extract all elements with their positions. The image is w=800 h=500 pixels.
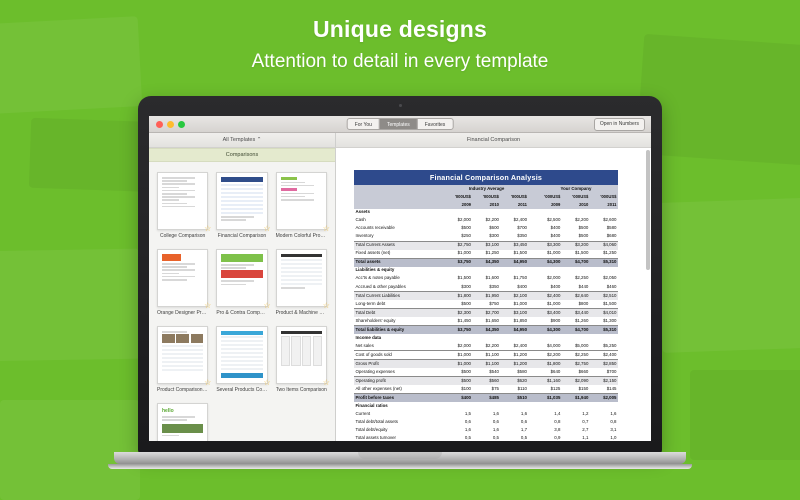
- row-value: $1,200: [501, 351, 529, 360]
- laptop-screen: For You Templates Favorites Open in Numb…: [149, 116, 651, 441]
- row-value: $500: [562, 233, 590, 242]
- favorite-star-icon[interactable]: ☆: [323, 379, 330, 387]
- row-value: $100: [445, 385, 473, 394]
- column-unit: '000US$: [473, 193, 501, 201]
- row-value: $500: [445, 225, 473, 233]
- row-value: $620: [501, 377, 529, 386]
- row-value: $510: [501, 394, 529, 403]
- preview-title: Financial Comparison: [336, 133, 651, 148]
- all-templates-popup[interactable]: All Templates ⌃: [149, 133, 335, 148]
- row-value: $1,260: [562, 317, 590, 326]
- laptop-mockup: For You Templates Favorites Open in Numb…: [138, 96, 662, 488]
- row-label: Cost of goods sold: [354, 351, 445, 360]
- row-label: Net sales: [354, 342, 445, 351]
- row-value: $1,100: [473, 351, 501, 360]
- column-year: 2010: [473, 201, 501, 209]
- row-value: 1,6: [590, 410, 618, 418]
- row-label: Operating expenses: [354, 368, 445, 377]
- template-thumbnail[interactable]: [157, 326, 208, 384]
- row-value: $4,350: [473, 325, 501, 334]
- row-label: Accounts receivable: [354, 225, 445, 233]
- row-value: 1,6: [473, 426, 501, 434]
- row-value: $400: [534, 283, 562, 292]
- row-value: $800: [562, 300, 590, 309]
- row-label: Acc'ts & notes payable: [354, 275, 445, 283]
- template-thumbnail[interactable]: [276, 172, 327, 230]
- row-value: $1,450: [445, 317, 473, 326]
- spacer-cell: [473, 334, 501, 342]
- row-value: $2,850: [590, 360, 618, 369]
- row-value: 0,5: [501, 434, 529, 441]
- row-value: $1,500: [590, 300, 618, 309]
- row-value: $1,035: [534, 394, 562, 403]
- table-row: Accounts receivable$500$600$700$400$500$…: [354, 225, 618, 233]
- row-value: $500: [445, 300, 473, 309]
- preview-scroll-area[interactable]: Financial Comparison Analysis Industry A…: [336, 148, 651, 441]
- templates-sidebar: All Templates ⌃ Comparisons ☆ College Co…: [149, 133, 336, 441]
- row-label: Total debt/equity: [354, 426, 445, 434]
- vertical-scrollbar[interactable]: [646, 150, 650, 270]
- row-value: $660: [562, 368, 590, 377]
- row-value: $400: [445, 394, 473, 403]
- row-value: $2,400: [590, 351, 618, 360]
- row-value: $640: [534, 368, 562, 377]
- row-value: $4,060: [590, 241, 618, 250]
- page-title: Unique designs: [0, 16, 800, 43]
- minimize-icon[interactable]: [167, 121, 174, 128]
- template-item-two-items-comparison[interactable]: ☆ Two Items Comparison: [272, 323, 331, 400]
- row-value: $350: [501, 233, 529, 242]
- table-row: Cash$2,000$2,200$2,400$2,500$2,200$2,600: [354, 217, 618, 225]
- section-header-row: Income data: [354, 334, 618, 342]
- row-value: $2,005: [590, 394, 618, 403]
- row-value: $1,300: [590, 317, 618, 326]
- row-value: $1,000: [501, 300, 529, 309]
- row-value: $400: [534, 233, 562, 242]
- favorite-star-icon[interactable]: ☆: [204, 379, 211, 387]
- row-value: $3,400: [534, 308, 562, 317]
- spacer-cell: [501, 334, 529, 342]
- template-item-orange-designer-product-comparison[interactable]: ☆ Orange Designer Product C...: [153, 246, 212, 323]
- template-thumbnail[interactable]: [157, 172, 208, 230]
- row-value: 1,0: [590, 434, 618, 441]
- spacer-cell: [473, 402, 501, 410]
- template-item-financial-comparison[interactable]: ☆ Financial Comparison: [212, 169, 271, 246]
- row-value: 1,1: [562, 434, 590, 441]
- table-row: Fixed assets (net)$1,000$1,250$1,500$1,0…: [354, 250, 618, 259]
- row-value: $2,400: [501, 217, 529, 225]
- webcam-icon: [399, 104, 402, 107]
- template-item-modern-colorful-product-comparison[interactable]: ☆ Modern Colorful Product Co...: [272, 169, 331, 246]
- bg-texture-5: [657, 197, 800, 353]
- row-value: $4,300: [534, 325, 562, 334]
- table-row: Gross Profit$1,000$1,100$1,200$1,800$2,7…: [354, 360, 618, 369]
- row-value: $250: [445, 233, 473, 242]
- row-value: $2,300: [445, 308, 473, 317]
- row-value: $5,000: [562, 342, 590, 351]
- row-value: $4,700: [562, 325, 590, 334]
- row-value: $2,250: [562, 351, 590, 360]
- row-value: $2,000: [445, 342, 473, 351]
- laptop-notch: [358, 452, 442, 459]
- row-value: $4,350: [473, 258, 501, 267]
- bg-texture-6: [690, 370, 800, 460]
- template-thumbnail[interactable]: [216, 172, 267, 230]
- row-value: $680: [590, 233, 618, 242]
- row-value: $4,950: [501, 325, 529, 334]
- row-value: $125: [534, 385, 562, 394]
- row-value: $600: [473, 225, 501, 233]
- favorite-star-icon[interactable]: ☆: [263, 302, 270, 310]
- column-unit: '000US$: [501, 193, 529, 201]
- row-value: $1,250: [473, 250, 501, 259]
- row-value: $3,100: [473, 241, 501, 250]
- row-value: $540: [473, 368, 501, 377]
- favorite-star-icon[interactable]: ☆: [323, 302, 330, 310]
- tab-for-you[interactable]: For You: [348, 119, 380, 129]
- favorite-star-icon[interactable]: ☆: [204, 302, 211, 310]
- row-value: $3,300: [534, 241, 562, 250]
- row-value: 1,6: [445, 426, 473, 434]
- row-value: $1,160: [534, 377, 562, 386]
- row-value: $2,640: [562, 291, 590, 300]
- template-thumbnail[interactable]: [276, 326, 327, 384]
- row-label: Total assets: [354, 258, 445, 267]
- template-label: Modern Colorful Product Co...: [276, 233, 327, 239]
- row-value: $1,000: [445, 351, 473, 360]
- spacer-cell: [562, 402, 590, 410]
- row-value: $500: [562, 225, 590, 233]
- column-units-row: '000US$'000US$'000US$'000US$'000US$'000U…: [354, 193, 618, 201]
- row-value: 3,8: [534, 426, 562, 434]
- row-value: $700: [590, 368, 618, 377]
- row-value: $1,940: [562, 394, 590, 403]
- row-value: $2,600: [590, 217, 618, 225]
- table-row: Total assets turnover0,50,50,50,91,11,0: [354, 434, 618, 441]
- table-row: Net sales$2,000$2,200$2,400$4,000$5,000$…: [354, 342, 618, 351]
- row-label: Total Current Liabilities: [354, 291, 445, 300]
- row-value: $2,200: [473, 342, 501, 351]
- section-name: Assets: [354, 209, 445, 217]
- template-label: Product & Machine Compari...: [276, 310, 327, 316]
- column-year: 2009: [534, 201, 562, 209]
- app-body: All Templates ⌃ Comparisons ☆ College Co…: [149, 133, 651, 441]
- section-name: Financial ratios: [354, 402, 445, 410]
- table-row: Profit before taxes$400$485$510$1,035$1,…: [354, 394, 618, 403]
- spacer-cell: [590, 209, 618, 217]
- row-label: Profit before taxes: [354, 394, 445, 403]
- traffic-lights[interactable]: [156, 121, 185, 128]
- table-row: Total Current Liabilities$1,800$1,950$2,…: [354, 291, 618, 300]
- template-item-several-products-comparison[interactable]: ☆ Several Products Comparison: [212, 323, 271, 400]
- table-row: Total liabilities & equity$3,750$4,350$4…: [354, 325, 618, 334]
- row-value: 0,8: [590, 418, 618, 426]
- row-value: $700: [501, 225, 529, 233]
- template-item-college-comparison[interactable]: ☆ College Comparison: [153, 169, 212, 246]
- row-label: Gross Profit: [354, 360, 445, 369]
- row-value: 1,6: [473, 410, 501, 418]
- template-thumbnail[interactable]: [157, 249, 208, 307]
- row-value: $2,200: [534, 351, 562, 360]
- spacer-cell: [354, 201, 445, 209]
- template-label: Orange Designer Product C...: [157, 310, 208, 316]
- favorite-star-icon[interactable]: ☆: [204, 225, 211, 233]
- section-name: Liabilities & equity: [354, 267, 445, 275]
- table-row: Operating profit$500$560$620$1,160$2,090…: [354, 377, 618, 386]
- row-value: $2,400: [534, 291, 562, 300]
- table-row: Total debt/total assets0,60,60,60,80,70,…: [354, 418, 618, 426]
- template-preview-panel: Financial Comparison Financial Compariso…: [336, 133, 651, 441]
- row-label: Total Debt: [354, 308, 445, 317]
- row-value: $1,650: [473, 317, 501, 326]
- template-label: College Comparison: [157, 233, 208, 239]
- row-value: $3,750: [445, 325, 473, 334]
- bg-texture-3: [0, 249, 141, 362]
- row-value: 0,5: [445, 434, 473, 441]
- sidebar-scroll-area[interactable]: Comparisons ☆ College Comparison: [149, 148, 335, 441]
- row-value: $580: [501, 368, 529, 377]
- row-label: Cash: [354, 217, 445, 225]
- row-value: $110: [501, 385, 529, 394]
- column-unit: '000US$: [590, 193, 618, 201]
- template-label: Financial Comparison: [216, 233, 267, 239]
- row-value: $1,800: [534, 360, 562, 369]
- row-value: $4,700: [562, 258, 590, 267]
- row-value: $3,200: [562, 241, 590, 250]
- row-label: Total Current Assets: [354, 241, 445, 250]
- close-icon[interactable]: [156, 121, 163, 128]
- row-value: $440: [562, 283, 590, 292]
- row-value: $460: [590, 283, 618, 292]
- row-label: Total assets turnover: [354, 434, 445, 441]
- row-value: 3,1: [590, 426, 618, 434]
- template-thumbnail[interactable]: [276, 249, 327, 307]
- financial-table: Industry AverageYour Company'000US$'000U…: [354, 185, 618, 441]
- row-value: $1,000: [445, 250, 473, 259]
- template-label: Product Comparison with Pi...: [157, 387, 208, 393]
- column-group-header-row: Industry AverageYour Company: [354, 185, 618, 193]
- sidebar-group-title-comparisons: Comparisons: [149, 148, 335, 162]
- spacer-cell: [590, 402, 618, 410]
- row-value: $2,000: [534, 275, 562, 283]
- spacer-cell: [562, 267, 590, 275]
- spacer-cell: [534, 267, 562, 275]
- template-thumbnail[interactable]: hello: [157, 403, 208, 441]
- row-value: $400: [501, 283, 529, 292]
- row-value: $2,100: [501, 291, 529, 300]
- page-subtitle: Attention to detail in every template: [0, 51, 800, 73]
- spacer-cell: [590, 267, 618, 275]
- spacer-cell: [534, 402, 562, 410]
- row-value: 0,6: [445, 418, 473, 426]
- row-value: $1,000: [445, 360, 473, 369]
- row-value: $1,500: [445, 275, 473, 283]
- column-unit: '000US$: [534, 193, 562, 201]
- row-value: $3,100: [501, 308, 529, 317]
- row-label: Accrued & other payables: [354, 283, 445, 292]
- section-header-row: Financial ratios: [354, 402, 618, 410]
- column-year: 2011: [501, 201, 529, 209]
- row-value: 1,2: [562, 410, 590, 418]
- row-value: 1,6: [501, 410, 529, 418]
- spacer-cell: [354, 193, 445, 201]
- table-row: Total assets$3,750$4,350$4,950$4,300$4,7…: [354, 258, 618, 267]
- template-thumbnail[interactable]: [216, 326, 267, 384]
- row-label: All other expenses (net): [354, 385, 445, 394]
- spacer-cell: [445, 334, 473, 342]
- row-value: $1,600: [473, 275, 501, 283]
- row-value: $5,310: [590, 325, 618, 334]
- row-label: Operating profit: [354, 377, 445, 386]
- row-label: Current: [354, 410, 445, 418]
- template-item-product-comparison-with-pictures[interactable]: ☆ Product Comparison with Pi...: [153, 323, 212, 400]
- row-value: $1,750: [501, 275, 529, 283]
- spacer-cell: [445, 267, 473, 275]
- spacer-cell: [473, 209, 501, 217]
- row-value: $2,700: [473, 308, 501, 317]
- template-label: Two Items Comparison: [276, 387, 327, 393]
- column-unit: '000US$: [562, 193, 590, 201]
- table-row: Total Debt$2,300$2,700$3,100$3,400$3,440…: [354, 308, 618, 317]
- row-label: Shareholders' equity: [354, 317, 445, 326]
- template-item-pro-contra-comparison[interactable]: ☆ Pro & Contra Comparison: [212, 246, 271, 323]
- section-name: Income data: [354, 334, 445, 342]
- spacer-cell: [473, 267, 501, 275]
- spacer-cell: [562, 209, 590, 217]
- row-value: $1,000: [534, 250, 562, 259]
- row-value: $4,010: [590, 308, 618, 317]
- spacer-cell: [445, 209, 473, 217]
- spacer-cell: [445, 402, 473, 410]
- row-value: $2,750: [562, 360, 590, 369]
- table-row: Total debt/equity1,61,61,73,82,73,1: [354, 426, 618, 434]
- row-value: 0,6: [501, 418, 529, 426]
- laptop-base-shadow: [108, 464, 692, 469]
- column-year: 2011: [590, 201, 618, 209]
- row-value: 0,7: [562, 418, 590, 426]
- row-value: $750: [473, 300, 501, 309]
- table-row: Total Current Assets$2,750$3,100$3,450$3…: [354, 241, 618, 250]
- row-value: 2,7: [562, 426, 590, 434]
- row-value: 0,8: [534, 418, 562, 426]
- row-value: $580: [590, 225, 618, 233]
- favorite-star-icon[interactable]: ☆: [263, 379, 270, 387]
- row-value: 1,5: [445, 410, 473, 418]
- row-label: Total liabilities & equity: [354, 325, 445, 334]
- row-value: $3,450: [501, 241, 529, 250]
- favorite-star-icon[interactable]: ☆: [323, 225, 330, 233]
- row-label: Inventory: [354, 233, 445, 242]
- spacer-cell: [534, 334, 562, 342]
- row-label: Total debt/total assets: [354, 418, 445, 426]
- template-item-uni-color-two-products[interactable]: hello ☆ Uni-color two products: [153, 400, 212, 441]
- laptop-lid: For You Templates Favorites Open in Numb…: [138, 96, 662, 454]
- column-year: 2010: [562, 201, 590, 209]
- row-value: $2,510: [590, 291, 618, 300]
- template-grid-comparisons: ☆ College Comparison ☆ Financial Compari…: [149, 162, 335, 441]
- table-row: Accrued & other payables$300$350$400$400…: [354, 283, 618, 292]
- row-value: $300: [445, 283, 473, 292]
- zoom-icon[interactable]: [178, 121, 185, 128]
- tab-favorites[interactable]: Favorites: [418, 119, 453, 129]
- row-value: $4,300: [534, 258, 562, 267]
- row-value: $2,150: [590, 377, 618, 386]
- spacer-cell: [562, 334, 590, 342]
- table-row: Inventory$250$300$350$400$500$680: [354, 233, 618, 242]
- row-value: $4,950: [501, 258, 529, 267]
- row-value: $150: [562, 385, 590, 394]
- template-thumbnail[interactable]: [216, 249, 267, 307]
- row-value: $1,850: [501, 317, 529, 326]
- template-label: Several Products Comparison: [216, 387, 267, 393]
- template-label: Pro & Contra Comparison: [216, 310, 267, 316]
- financial-comparison-sheet: Financial Comparison Analysis Industry A…: [354, 170, 618, 441]
- table-row: Shareholders' equity$1,450$1,650$1,850$9…: [354, 317, 618, 326]
- column-group-name: Industry Average: [445, 185, 529, 193]
- bg-texture-7: [0, 400, 140, 500]
- row-value: 1,4: [534, 410, 562, 418]
- row-value: $1,800: [445, 291, 473, 300]
- row-value: $2,250: [562, 275, 590, 283]
- tab-templates[interactable]: Templates: [380, 119, 418, 129]
- favorite-star-icon[interactable]: ☆: [263, 225, 270, 233]
- template-item-product-machine-comparison[interactable]: ☆ Product & Machine Compari...: [272, 246, 331, 323]
- row-value: $2,090: [562, 377, 590, 386]
- row-value: $1,500: [562, 250, 590, 259]
- column-unit: '000US$: [445, 193, 473, 201]
- row-value: $4,000: [534, 342, 562, 351]
- row-value: $1,000: [534, 300, 562, 309]
- spacer-cell: [501, 209, 529, 217]
- row-value: $1,200: [501, 360, 529, 369]
- open-in-numbers-button[interactable]: Open in Numbers: [594, 118, 645, 131]
- row-value: $1,950: [473, 291, 501, 300]
- template-chooser-segmented-control[interactable]: For You Templates Favorites: [347, 118, 454, 130]
- row-value: $5,310: [590, 258, 618, 267]
- column-group-name: Your Company: [534, 185, 618, 193]
- table-row: Acc'ts & notes payable$1,500$1,600$1,750…: [354, 275, 618, 283]
- row-value: 0,6: [473, 418, 501, 426]
- row-value: $300: [473, 233, 501, 242]
- row-value: $3,750: [445, 258, 473, 267]
- promo-headings: Unique designs Attention to detail in ev…: [0, 16, 800, 73]
- row-value: $2,400: [501, 342, 529, 351]
- window-titlebar: For You Templates Favorites Open in Numb…: [149, 116, 651, 133]
- row-value: $1,500: [501, 250, 529, 259]
- row-value: $2,200: [562, 217, 590, 225]
- row-value: $2,000: [445, 217, 473, 225]
- row-value: $2,050: [590, 275, 618, 283]
- column-year: 2009: [445, 201, 473, 209]
- row-value: $560: [473, 377, 501, 386]
- spacer-cell: [501, 267, 529, 275]
- row-value: $2,500: [534, 217, 562, 225]
- row-value: $400: [534, 225, 562, 233]
- row-value: $500: [445, 377, 473, 386]
- spacer-cell: [501, 402, 529, 410]
- row-value: $75: [473, 385, 501, 394]
- table-row: All other expenses (net)$100$75$110$125$…: [354, 385, 618, 394]
- row-value: $2,750: [445, 241, 473, 250]
- table-row: Long-term debt$500$750$1,000$1,000$800$1…: [354, 300, 618, 309]
- spacer-cell: [354, 185, 445, 193]
- table-row: Cost of goods sold$1,000$1,100$1,200$2,2…: [354, 351, 618, 360]
- promo-screenshot: Unique designs Attention to detail in ev…: [0, 0, 800, 500]
- row-value: $1,250: [590, 250, 618, 259]
- row-value: $3,440: [562, 308, 590, 317]
- row-label: Long-term debt: [354, 300, 445, 309]
- row-value: $485: [473, 394, 501, 403]
